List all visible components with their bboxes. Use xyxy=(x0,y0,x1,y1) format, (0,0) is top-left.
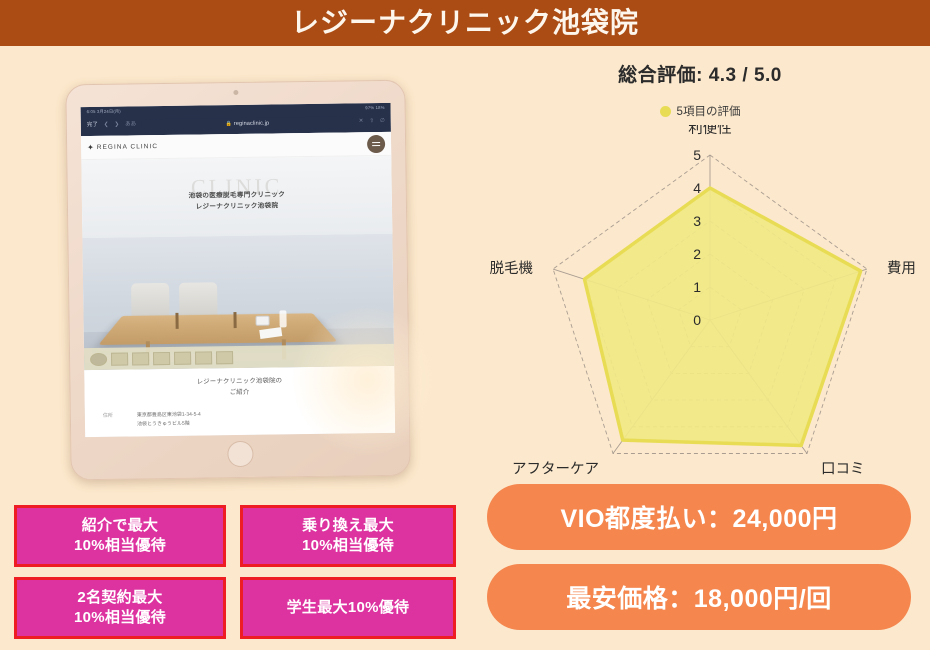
legend-label: 5項目の評価 xyxy=(677,103,741,119)
radar-axis-label: 口コミ xyxy=(821,461,865,475)
radar-chart: 012345利便性費用口コミアフターケア脱毛機 xyxy=(470,125,930,475)
share-icon[interactable]: ⇧ xyxy=(369,119,374,125)
photo-thumbnail-strip[interactable] xyxy=(84,344,394,370)
radar-axis-label: 費用 xyxy=(887,260,916,277)
clinic-tablet-screenshot: 6:05 3月24日(月) 97% 18% 完了 ❮ ❯ ああ 🔒 regina… xyxy=(52,80,432,480)
address-row: 住所 東京都豊島区東池袋1-34-5-4 池袋とうきゅうビル5階 xyxy=(93,397,387,430)
address-value: 東京都豊島区東池袋1-34-5-4 池袋とうきゅうビル5階 xyxy=(137,410,201,428)
thumbnail[interactable] xyxy=(111,352,128,365)
url-text: reginaclinic.jp xyxy=(234,121,269,127)
benefit-badge-label: 紹介で最大 10%相当優待 xyxy=(74,516,166,557)
radial-tick-label: 3 xyxy=(693,213,701,229)
text-size-button[interactable]: ああ xyxy=(125,123,136,129)
address-bar[interactable]: 🔒 reginaclinic.jp xyxy=(142,116,353,131)
address-line-1: 東京都豊島区東池袋1-34-5-4 xyxy=(137,410,201,420)
address-label: 住所 xyxy=(103,411,125,429)
page-title: レジーナクリニック池袋院 xyxy=(291,9,639,37)
back-icon[interactable]: ❮ xyxy=(104,123,109,129)
tablet-screen: 6:05 3月24日(月) 97% 18% 完了 ❮ ❯ ああ 🔒 regina… xyxy=(81,103,396,437)
website-content: ✦ REGINA CLINIC CLINIC 池袋の医療脱毛専門クリニック レジ… xyxy=(81,132,395,437)
radar-axis-label: アフターケア xyxy=(512,460,599,475)
radial-tick-label: 0 xyxy=(693,312,701,328)
price-pill-vio: VIO都度払い：24,000円 xyxy=(487,484,911,550)
lock-icon: 🔒 xyxy=(226,121,232,127)
page-header: レジーナクリニック池袋院 xyxy=(0,0,930,46)
price-pill-label: VIO都度払い：24,000円 xyxy=(560,499,837,535)
hero-heading: 池袋の医療脱毛専門クリニック レジーナクリニック池袋院 xyxy=(82,189,392,215)
front-camera-icon xyxy=(233,90,238,95)
site-logo-text: REGINA CLINIC xyxy=(97,143,158,151)
thumbnail[interactable] xyxy=(216,351,233,364)
address-line-2: 池袋とうきゅうビル5階 xyxy=(137,419,201,429)
forward-icon[interactable]: ❯ xyxy=(114,123,119,129)
radial-tick-label: 4 xyxy=(693,180,701,196)
star-logo-icon: ✦ xyxy=(87,143,94,152)
clinic-room-photo xyxy=(82,234,394,370)
site-logo[interactable]: ✦ REGINA CLINIC xyxy=(87,142,158,152)
radar-axis-label: 利便性 xyxy=(688,125,732,137)
home-button[interactable] xyxy=(227,441,253,467)
legend-marker-icon xyxy=(660,106,671,117)
tablet-device: 6:05 3月24日(月) 97% 18% 完了 ❮ ❯ ああ 🔒 regina… xyxy=(65,80,410,481)
benefit-badge-label: 乗り換え最大 10%相当優待 xyxy=(302,516,394,557)
browser-toolbar-right: ✕ ⇧ ∅ xyxy=(359,119,385,125)
price-pill-lowest: 最安価格：18,000円/回 xyxy=(487,564,911,630)
photo-desk-object xyxy=(233,312,236,328)
chart-legend: 5項目の評価 xyxy=(470,103,930,119)
thumbnail[interactable] xyxy=(174,351,191,364)
close-icon[interactable]: ✕ xyxy=(359,119,364,125)
overall-rating-title: 総合評価: 4.3 / 5.0 xyxy=(470,60,930,87)
status-time: 6:05 3月24日(月) xyxy=(87,110,121,115)
benefit-badge-student: 学生最大10%優待 xyxy=(240,577,456,639)
thumbnail[interactable] xyxy=(195,351,212,364)
thumbnail[interactable] xyxy=(90,352,107,365)
menu-bar xyxy=(372,145,380,146)
photo-sanitizer-bottle xyxy=(279,310,286,327)
site-intro-section: レジーナクリニック池袋院の ご紹介 住所 東京都豊島区東池袋1-34-5-4 池… xyxy=(84,366,395,430)
menu-bar xyxy=(372,142,380,143)
radial-tick-label: 5 xyxy=(693,147,701,163)
photo-table xyxy=(98,313,337,345)
browser-chrome: 6:05 3月24日(月) 97% 18% 完了 ❮ ❯ ああ 🔒 regina… xyxy=(81,103,391,136)
photo-desk-object xyxy=(175,313,178,329)
thumbnail[interactable] xyxy=(153,351,170,364)
status-battery: 97% 18% xyxy=(365,106,384,110)
benefit-badge-label: 2名契約最大 10%相当優待 xyxy=(74,588,166,629)
reader-icon[interactable]: ∅ xyxy=(380,119,385,125)
benefit-badge-pair: 2名契約最大 10%相当優待 xyxy=(14,577,226,639)
benefit-badge-referral: 紹介で最大 10%相当優待 xyxy=(14,505,226,567)
thumbnail[interactable] xyxy=(132,352,149,365)
radial-tick-label: 1 xyxy=(693,279,701,295)
benefit-badge-switch: 乗り換え最大 10%相当優待 xyxy=(240,505,456,567)
benefit-badge-label: 学生最大10%優待 xyxy=(287,598,410,618)
site-hero: CLINIC 池袋の医療脱毛専門クリニック レジーナクリニック池袋院 xyxy=(81,156,392,238)
photo-device xyxy=(256,316,270,326)
hamburger-menu-icon[interactable] xyxy=(367,135,385,153)
done-button[interactable]: 完了 xyxy=(87,123,98,129)
radar-axis-label: 脱毛機 xyxy=(490,260,534,277)
price-pill-label: 最安価格：18,000円/回 xyxy=(566,579,831,615)
radial-tick-label: 2 xyxy=(693,246,701,262)
